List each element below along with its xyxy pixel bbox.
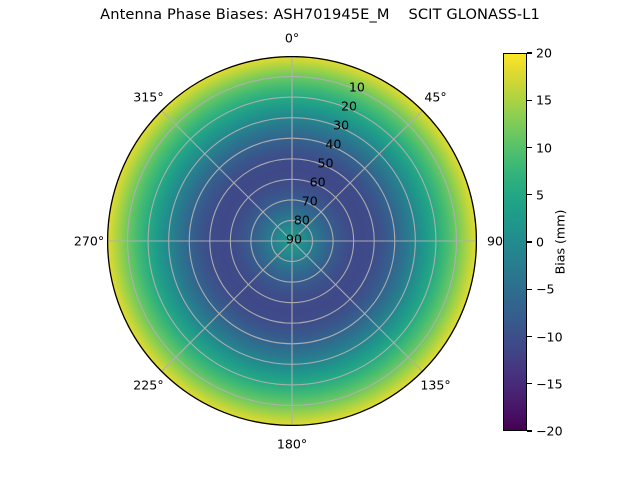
colorbar-tick-label: −5 bbox=[536, 282, 555, 297]
colorbar-tick-mark bbox=[527, 430, 532, 431]
azimuth-tick-270: 270° bbox=[74, 234, 104, 249]
polar-plot-canvas bbox=[107, 56, 477, 426]
colorbar-tick-mark bbox=[527, 100, 532, 101]
colorbar-tick-mark bbox=[527, 241, 532, 242]
colorbar-tick-mark bbox=[527, 52, 532, 53]
colorbar-tick-mark bbox=[527, 194, 532, 195]
colorbar-tick-mark bbox=[527, 147, 532, 148]
colorbar-tick-label: 20 bbox=[536, 46, 552, 61]
colorbar-tick-label: 5 bbox=[536, 187, 544, 202]
azimuth-tick-180: 180° bbox=[277, 437, 307, 452]
colorbar-tick-mark bbox=[527, 289, 532, 290]
colorbar-tick-label: 15 bbox=[536, 93, 552, 108]
colorbar-axis-label: Bias (mm) bbox=[553, 210, 568, 275]
colorbar-tick-label: 0 bbox=[536, 235, 544, 250]
colorbar-tick-label: −15 bbox=[536, 376, 563, 391]
colorbar-tick-label: −20 bbox=[536, 424, 563, 439]
colorbar-gradient bbox=[503, 53, 527, 431]
matplotlib-figure: Antenna Phase Biases: ASH701945E_M SCIT … bbox=[0, 0, 640, 480]
azimuth-tick-0: 0° bbox=[285, 31, 299, 46]
polar-gridlines bbox=[107, 56, 477, 426]
colorbar-tick-label: −10 bbox=[536, 329, 563, 344]
polar-axes: 0°45°90135°180°225°270°315° 102030405060… bbox=[107, 56, 477, 426]
colorbar-tick-label: 10 bbox=[536, 140, 552, 155]
page-title: Antenna Phase Biases: ASH701945E_M SCIT … bbox=[0, 6, 640, 23]
colorbar: 20151050−5−10−15−20 bbox=[503, 53, 527, 431]
azimuth-tick-90: 90 bbox=[487, 234, 503, 249]
colorbar-tick-mark bbox=[527, 383, 532, 384]
colorbar-tick-mark bbox=[527, 336, 532, 337]
